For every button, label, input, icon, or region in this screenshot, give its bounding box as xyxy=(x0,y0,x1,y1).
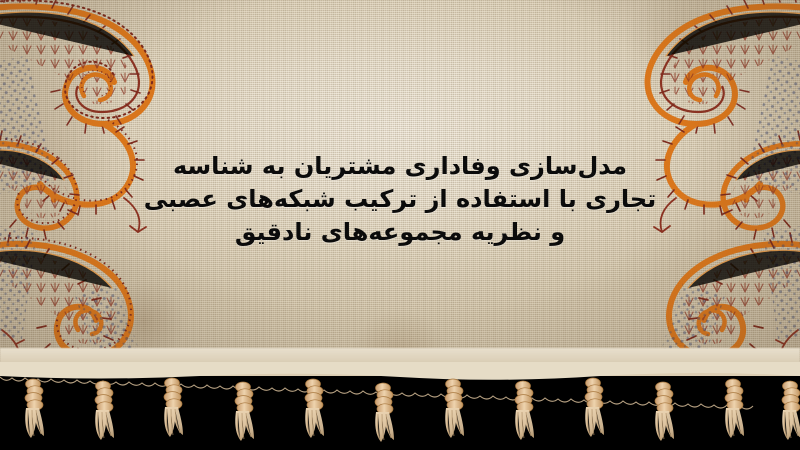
title-line-2: تجاری با استفاده از ترکیب شبکه‌های عصبی xyxy=(0,183,800,216)
title-line-1: مدل‌سازی وفاداری مشتریان به شناسه xyxy=(0,150,800,183)
title-line-3: و نظریه مجموعه‌های نادقیق xyxy=(0,216,800,249)
fabric-selvedge-edge xyxy=(0,348,800,374)
thesis-title: مدل‌سازی وفاداری مشتریان به شناسه تجاری … xyxy=(0,150,800,249)
title-slide: مدل‌سازی وفاداری مشتریان به شناسه تجاری … xyxy=(0,0,800,450)
tassel-fringe xyxy=(0,362,800,450)
tassel-row xyxy=(25,378,800,442)
